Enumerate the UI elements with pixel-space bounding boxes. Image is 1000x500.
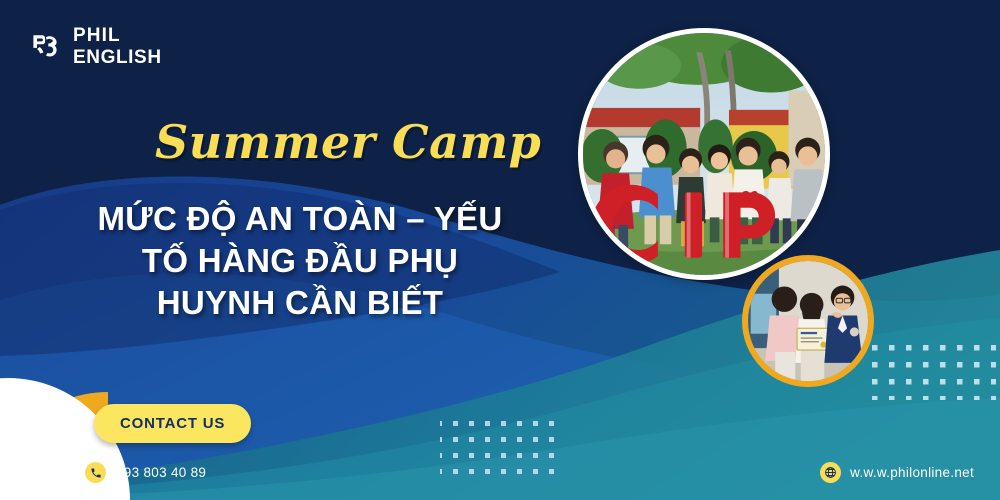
phone-icon xyxy=(85,462,106,483)
brand-logo[interactable]: PHIL ENGLISH xyxy=(28,26,162,67)
headline-line-3: HUYNH CẦN BIẾT xyxy=(40,282,560,324)
phil-english-lion-emblem-icon xyxy=(28,29,64,65)
brand-wordmark: PHIL ENGLISH xyxy=(73,26,162,67)
contact-us-button[interactable]: CONTACT US xyxy=(94,404,251,443)
phone-contact[interactable]: 093 803 40 89 xyxy=(85,462,206,483)
phone-number: 093 803 40 89 xyxy=(116,465,206,480)
summer-camp-script-title: Summer Camp xyxy=(155,115,541,169)
photo-children-cip: 86 xyxy=(578,28,830,280)
globe-icon xyxy=(820,462,841,483)
page-title: MỨC ĐỘ AN TOÀN – YẾU TỐ HÀNG ĐẦU PHỤ HUY… xyxy=(40,198,560,325)
headline-line-2: TỐ HÀNG ĐẦU PHỤ xyxy=(40,240,560,282)
website-url: w.w.w.philonline.net xyxy=(850,465,974,480)
summer-camp-banner: PHIL ENGLISH Summer Camp MỨC ĐỘ AN TOÀN … xyxy=(0,0,1000,500)
brand-line-2: ENGLISH xyxy=(73,48,162,67)
website-contact[interactable]: w.w.w.philonline.net xyxy=(820,462,974,483)
headline-line-1: MỨC ĐỘ AN TOÀN – YẾU xyxy=(40,198,560,240)
photo-certificate-award xyxy=(742,255,874,387)
brand-line-1: PHIL xyxy=(73,26,162,45)
